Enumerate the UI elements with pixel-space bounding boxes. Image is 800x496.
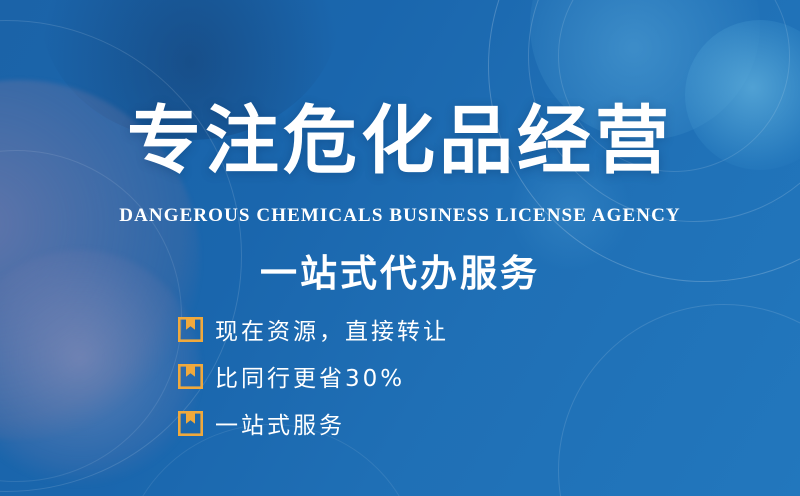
headline: 专注危化品经营 [0,104,800,178]
chinese-subtitle: 一站式代办服务 [0,243,800,297]
list-item: 一站式服务 [178,406,449,440]
promo-banner: 专注危化品经营 DANGEROUS CHEMICALS BUSINESS LIC… [0,0,800,496]
list-item-label: 比同行更省30% [215,359,405,393]
bookmark-square-icon [178,411,203,436]
list-item: 比同行更省30% [178,359,449,393]
english-subtitle: DANGEROUS CHEMICALS BUSINESS LICENSE AGE… [0,205,800,227]
bookmark-square-icon [178,317,203,342]
banner-content: 专注危化品经营 DANGEROUS CHEMICALS BUSINESS LIC… [0,0,800,496]
list-item-label: 现在资源，直接转让 [215,312,449,346]
bookmark-square-icon [178,364,203,389]
feature-list: 现在资源，直接转让 比同行更省30% 一站式 [178,312,449,440]
list-item: 现在资源，直接转让 [178,312,449,346]
list-item-label: 一站式服务 [215,406,345,440]
